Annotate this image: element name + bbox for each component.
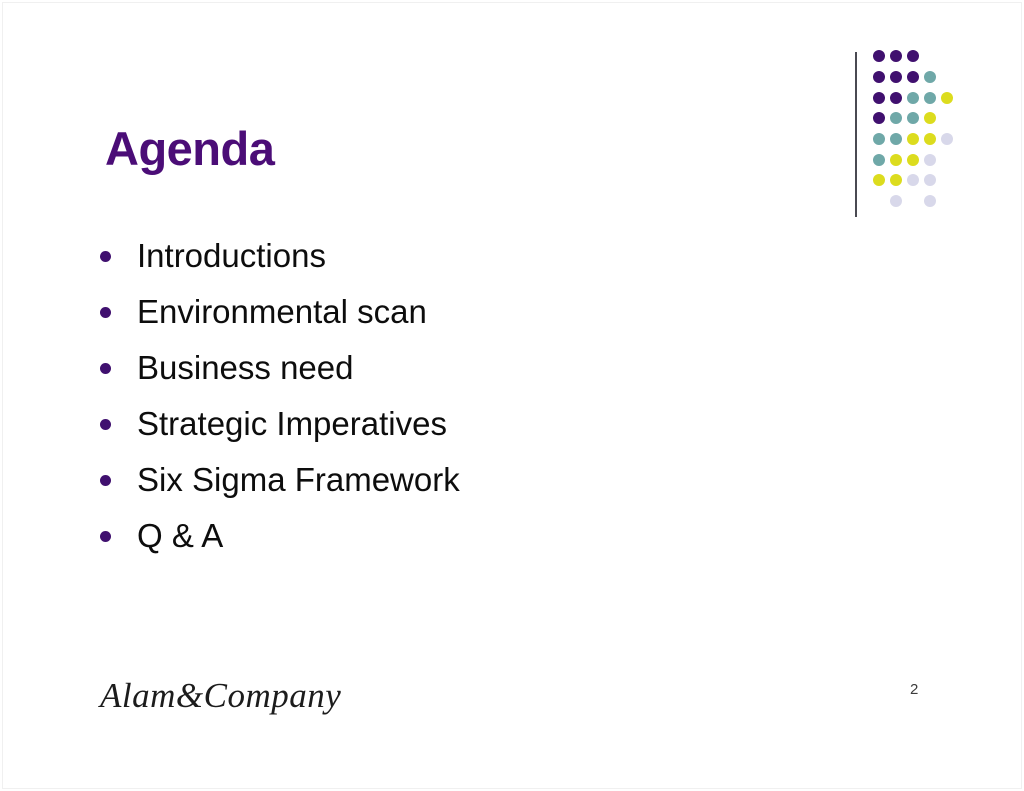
- logo-dot: [907, 50, 919, 62]
- logo-dot: [941, 92, 953, 104]
- logo-dot: [890, 50, 902, 62]
- list-item: Environmental scan: [100, 284, 800, 340]
- logo-dot: [873, 154, 885, 166]
- page-number: 2: [910, 681, 918, 698]
- logo-dot: [873, 92, 885, 104]
- bullet-dot-icon: [100, 475, 111, 486]
- agenda-item-label: Introductions: [137, 238, 326, 274]
- logo-dot: [873, 71, 885, 83]
- company-wordmark: Alam&Company: [100, 676, 341, 716]
- logo-dot: [907, 174, 919, 186]
- logo-dot: [907, 154, 919, 166]
- logo-dot: [890, 174, 902, 186]
- logo-dot: [890, 112, 902, 124]
- agenda-bullet-list: IntroductionsEnvironmental scanBusiness …: [100, 228, 800, 564]
- logo-dot: [924, 112, 936, 124]
- bullet-dot-icon: [100, 419, 111, 430]
- logo-dot: [890, 154, 902, 166]
- list-item: Business need: [100, 340, 800, 396]
- logo-dot: [907, 92, 919, 104]
- logo-dot: [924, 174, 936, 186]
- list-item: Strategic Imperatives: [100, 396, 800, 452]
- logo-dot: [873, 174, 885, 186]
- bullet-dot-icon: [100, 363, 111, 374]
- bullet-dot-icon: [100, 531, 111, 542]
- logo-dot: [873, 112, 885, 124]
- logo-dot: [890, 92, 902, 104]
- logo-dot: [890, 195, 902, 207]
- list-item: Introductions: [100, 228, 800, 284]
- bullet-dot-icon: [100, 251, 111, 262]
- logo-dot: [873, 50, 885, 62]
- presentation-slide: Agenda IntroductionsEnvironmental scanBu…: [0, 0, 1024, 791]
- logo-dot: [907, 112, 919, 124]
- agenda-item-label: Q & A: [137, 518, 223, 554]
- logo-dot: [907, 71, 919, 83]
- logo-dot-grid: [873, 50, 973, 215]
- list-item: Q & A: [100, 508, 800, 564]
- logo-vertical-rule: [855, 52, 857, 217]
- logo-dot: [924, 71, 936, 83]
- bullet-dot-icon: [100, 307, 111, 318]
- agenda-item-label: Environmental scan: [137, 294, 427, 330]
- agenda-item-label: Six Sigma Framework: [137, 462, 460, 498]
- page-title: Agenda: [105, 124, 274, 173]
- logo-dot: [924, 195, 936, 207]
- agenda-item-label: Strategic Imperatives: [137, 406, 447, 442]
- logo-dot: [924, 154, 936, 166]
- logo-dot: [941, 133, 953, 145]
- agenda-item-label: Business need: [137, 350, 353, 386]
- logo-dot: [890, 133, 902, 145]
- logo-dot: [924, 133, 936, 145]
- list-item: Six Sigma Framework: [100, 452, 800, 508]
- logo-dot: [907, 133, 919, 145]
- logo-dot: [873, 133, 885, 145]
- logo-dot: [924, 92, 936, 104]
- dot-matrix-logo: [855, 50, 975, 220]
- logo-dot: [890, 71, 902, 83]
